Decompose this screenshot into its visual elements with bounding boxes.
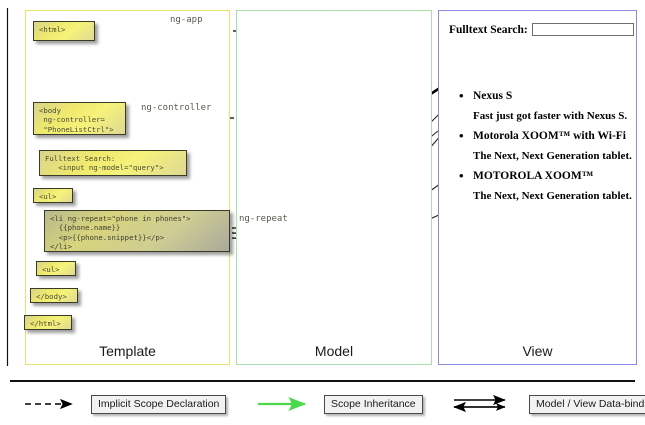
template-box-ul-open-tag[interactable]: <ul> [33,188,73,203]
edge-label-ng-app: ng-app [170,15,203,25]
legend-label-model-view-data-binding: Model / View Data-binding [529,395,645,414]
legend-label-implicit-scope-declaration: Implicit Scope Declaration [91,395,226,414]
green-arrow-icon [255,394,317,414]
list-item-name: MOTOROLA XOOM™ [457,169,632,184]
list-item-snippet: The Next, Next Generation tablet. [457,149,632,164]
list-item-snippet: The Next, Next Generation tablet. [457,189,632,204]
view-phone-list: Nexus S Fast just got faster with Nexus … [457,89,632,209]
list-item[interactable]: Motorola XOOM™ with Wi-Fi The Next, Next… [457,129,632,164]
diagram-root: Root Scope PhoneListCtrl Scope query: St… [0,0,645,425]
view-search-input[interactable] [532,23,634,36]
legend-label-scope-inheritance: Scope Inheritance [324,395,423,414]
template-box-html-close-tag[interactable]: </html> [24,315,72,330]
list-item[interactable]: MOTOROLA XOOM™ The Next, Next Generation… [457,169,632,204]
dashed-arrow-icon [22,394,84,414]
panel-model: Model [236,10,432,365]
view-search-row: Fulltext Search: [449,23,634,36]
template-box-body-open-tag[interactable]: <body ng-controller= "PhoneListCtrl"> [33,102,126,135]
legend-item-model-view-data-binding: Model / View Data-binding [450,394,645,414]
template-box-fulltext-search-input[interactable]: Fulltext Search: <input ng-model="query"… [39,150,187,176]
legend-item-scope-inheritance: Scope Inheritance [255,394,423,414]
template-box-ul-close-tag[interactable]: <ul> [36,261,76,276]
legend: Implicit Scope Declaration Scope Inherit… [0,378,645,425]
list-item-name: Motorola XOOM™ with Wi-Fi [457,129,632,144]
list-item[interactable]: Nexus S Fast just got faster with Nexus … [457,89,632,124]
list-item-name: Nexus S [457,89,632,104]
panel-view: Fulltext Search: Nexus S Fast just got f… [438,10,637,365]
template-box-li-ng-repeat[interactable]: <li ng-repeat="phone in phones"> {{phone… [44,210,230,252]
template-box-html-open-tag[interactable]: <html> [33,21,95,41]
panel-template-label: Template [26,343,229,359]
double-arrow-icon [450,394,522,414]
legend-separator-rule [0,378,645,386]
legend-item-implicit-scope-declaration: Implicit Scope Declaration [22,394,226,414]
edge-label-ng-repeat: ng-repeat [239,214,288,224]
panel-view-label: View [439,343,636,359]
template-box-body-close-tag[interactable]: </body> [30,288,78,303]
panel-model-label: Model [237,343,431,359]
list-item-snippet: Fast just got faster with Nexus S. [457,109,632,124]
edge-label-ng-controller: ng-controller [141,103,211,113]
view-search-label: Fulltext Search: [449,24,528,36]
